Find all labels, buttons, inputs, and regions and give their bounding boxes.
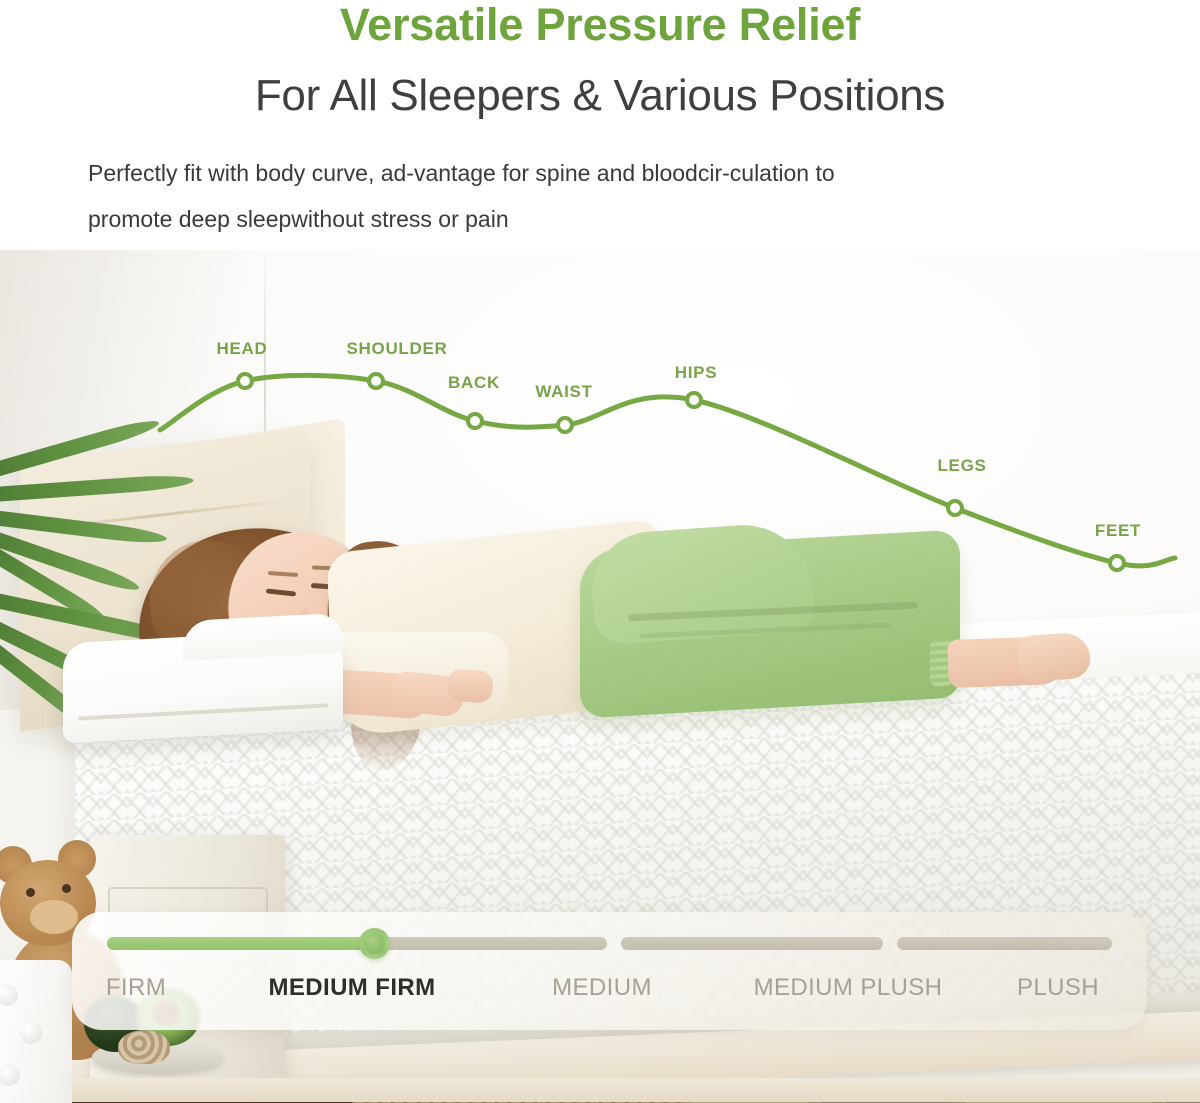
firmness-option-medium-firm[interactable]: MEDIUM FIRM — [268, 974, 435, 1002]
page-title-secondary: For All Sleepers & Various Positions — [0, 66, 1200, 126]
firmness-slider-fill — [107, 937, 372, 950]
second-hand — [446, 668, 495, 704]
pom-pom — [0, 984, 18, 1006]
track-segment-2[interactable] — [621, 937, 883, 950]
firmness-option-firm[interactable]: FIRM — [106, 974, 166, 1002]
firmness-slider-track[interactable] — [107, 937, 1112, 951]
infographic-page: HEADSHOULDERBACKWAISTHIPSLEGSFEET Versat… — [0, 0, 1200, 1103]
bare-foot — [1016, 632, 1091, 683]
firmness-option-plush[interactable]: PLUSH — [1017, 974, 1099, 1002]
track-segment-3[interactable] — [897, 937, 1112, 950]
page-title-accent: Versatile Pressure Relief — [0, 0, 1200, 52]
teddy-eye-left — [26, 888, 35, 897]
teddy-muzzle — [30, 900, 78, 934]
description-line-2: promote deep sleepwithout stress or pain — [88, 206, 509, 232]
firmness-option-medium-plush[interactable]: MEDIUM PLUSH — [754, 974, 943, 1002]
contour-memory-foam-pillow — [63, 629, 343, 744]
firmness-selector-card[interactable]: FIRMMEDIUM FIRMMEDIUMMEDIUM PLUSHPLUSH — [72, 912, 1147, 1030]
firmness-option-medium[interactable]: MEDIUM — [552, 974, 652, 1002]
pom-pom — [20, 1022, 42, 1044]
curtain — [0, 960, 72, 1103]
firmness-slider-thumb[interactable] — [359, 928, 390, 959]
header: Versatile Pressure Relief For All Sleepe… — [0, 0, 1200, 250]
description-line-1: Perfectly fit with body curve, ad-vantag… — [88, 160, 835, 186]
teddy-eye-right — [62, 884, 71, 893]
pom-pom — [0, 1064, 20, 1086]
baseboard — [0, 1078, 1200, 1102]
description-text: Perfectly fit with body curve, ad-vantag… — [88, 150, 1148, 242]
pinecone — [118, 1030, 170, 1064]
firmness-option-labels: FIRMMEDIUM FIRMMEDIUMMEDIUM PLUSHPLUSH — [72, 974, 1147, 1010]
